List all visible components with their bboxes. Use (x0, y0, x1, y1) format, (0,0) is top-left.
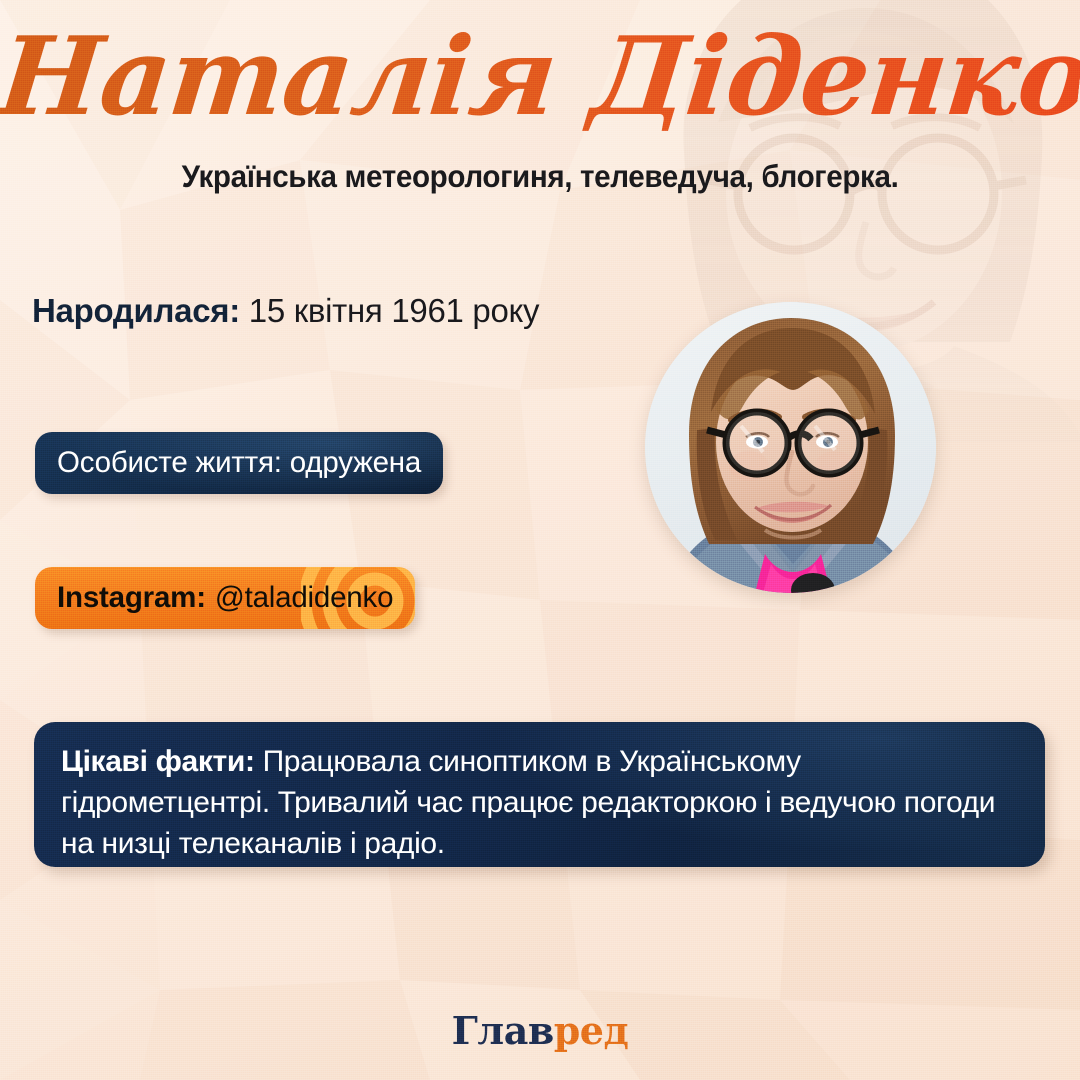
infographic-card: Наталія Діденко Українська метеорологиня… (0, 0, 1080, 1080)
facts-label: Цікаві факти: (61, 745, 255, 778)
instagram-badge[interactable]: Instagram: @taladidenko (35, 567, 415, 629)
birth-value: 15 квітня 1961 року (249, 292, 539, 329)
subtitle-tagline: Українська метеорологиня, телеведуча, бл… (32, 158, 1047, 195)
personal-life-text: Особисте життя: одружена (57, 446, 421, 480)
birth-label: Народилася: (32, 292, 240, 329)
logo-part-two: ред (554, 1008, 629, 1053)
portrait-illustration (645, 302, 936, 593)
personal-life-badge: Особисте життя: одружена (35, 432, 443, 494)
brand-logo[interactable]: Главред (0, 1008, 1080, 1053)
interesting-facts-box: Цікаві факти: Працювала синоптиком в Укр… (34, 722, 1045, 867)
logo-part-one: Глав (452, 1008, 554, 1053)
birth-info: Народилася: 15 квітня 1961 року (32, 292, 539, 330)
portrait-photo (645, 302, 936, 593)
instagram-label: Instagram: (57, 581, 206, 615)
instagram-handle[interactable]: @taladidenko (215, 581, 393, 615)
page-title: Наталія Діденко (0, 14, 1080, 141)
